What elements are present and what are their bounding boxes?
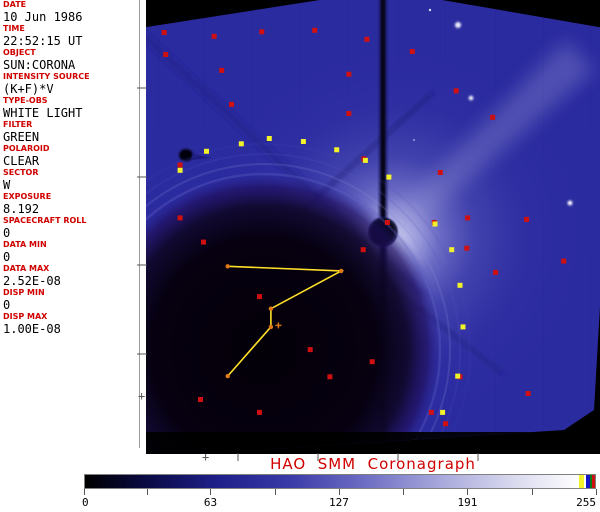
meta-row: FILTER GREEN (0, 120, 139, 144)
meta-value-date: 10 Jun 1986 (3, 10, 139, 24)
colorbar: 063127191255 (84, 474, 596, 512)
meta-row: TYPE-OBS WHITE LIGHT (0, 96, 139, 120)
colorbar-tick-4 (339, 489, 340, 495)
meta-value-object: SUN:CORONA (3, 58, 139, 72)
yellow-marker (386, 175, 391, 180)
meta-label-polaroid: POLAROID (3, 144, 139, 154)
yellow-marker (178, 168, 183, 173)
red-marker (219, 68, 224, 73)
red-marker (308, 347, 313, 352)
colorbar-label-255: 255 (576, 496, 596, 509)
yellow-marker (363, 158, 368, 163)
red-marker (361, 247, 366, 252)
red-marker (163, 52, 168, 57)
colorbar-strip[interactable] (84, 474, 596, 489)
red-marker (454, 88, 459, 93)
meta-row: DATA MIN 0 (0, 240, 139, 264)
colorbar-tick-1 (147, 489, 148, 495)
field-of-view (146, 0, 600, 454)
colorbar-label-191: 191 (458, 496, 478, 509)
red-marker (178, 163, 183, 168)
colorbar-ticks (84, 489, 596, 496)
red-marker (178, 215, 183, 220)
meta-row: INTENSITY SOURCE (K+F)*V (0, 72, 139, 96)
red-marker (465, 215, 470, 220)
meta-value-filter: GREEN (3, 130, 139, 144)
red-marker (346, 111, 351, 116)
red-marker (312, 28, 317, 33)
meta-label-type-obs: TYPE-OBS (3, 96, 139, 106)
coronagraph-canvas (146, 0, 600, 454)
red-marker (490, 115, 495, 120)
meta-value-data-min: 0 (3, 250, 139, 264)
red-marker (257, 410, 262, 415)
red-marker (201, 240, 206, 245)
colorbar-tick-7 (532, 489, 533, 495)
yellow-marker (455, 374, 460, 379)
meta-value-disp-max: 1.00E-08 (3, 322, 139, 336)
red-marker (212, 34, 217, 39)
meta-value-time: 22:52:15 UT (3, 34, 139, 48)
meta-label-filter: FILTER (3, 120, 139, 130)
meta-label-object: OBJECT (3, 48, 139, 58)
red-marker (229, 102, 234, 107)
meta-value-exposure: 8.192 (3, 202, 139, 216)
meta-label-disp-max: DISP MAX (3, 312, 139, 322)
polygon-vertex-4[interactable] (226, 374, 230, 378)
meta-row: DISP MAX 1.00E-08 (0, 312, 139, 336)
colorbar-label-127: 127 (329, 496, 349, 509)
meta-row: DATE 10 Jun 1986 (0, 0, 139, 24)
yellow-marker (433, 222, 438, 227)
metadata-panel: DATE 10 Jun 1986 TIME 22:52:15 UT OBJECT… (0, 0, 140, 448)
meta-label-disp-min: DISP MIN (3, 288, 139, 298)
meta-row: SECTOR W (0, 168, 139, 192)
meta-row: TIME 22:52:15 UT (0, 24, 139, 48)
meta-value-disp-min: 0 (3, 298, 139, 312)
yellow-marker (461, 324, 466, 329)
colorbar-label-63: 63 (204, 496, 217, 509)
polygon-vertex-0[interactable] (226, 264, 230, 268)
red-marker (198, 397, 203, 402)
red-marker (443, 421, 448, 426)
yellow-marker (301, 139, 306, 144)
meta-value-polaroid: CLEAR (3, 154, 139, 168)
colorbar-gradient (85, 475, 595, 488)
red-marker (364, 37, 369, 42)
colorbar-end-stripe-4 (592, 475, 595, 488)
meta-value-intensity-source: (K+F)*V (3, 82, 139, 96)
meta-label-time: TIME (3, 24, 139, 34)
red-marker (410, 49, 415, 54)
meta-row: EXPOSURE 8.192 (0, 192, 139, 216)
polygon-vertex-2[interactable] (269, 307, 273, 311)
coronagraph-viewer: DATE 10 Jun 1986 TIME 22:52:15 UT OBJECT… (0, 0, 600, 512)
yellow-marker (458, 283, 463, 288)
yellow-marker (449, 247, 454, 252)
meta-value-type-obs: WHITE LIGHT (3, 106, 139, 120)
red-marker (429, 410, 434, 415)
yellow-marker (204, 149, 209, 154)
yellow-marker (267, 136, 272, 141)
red-marker (257, 294, 262, 299)
chart-title: HAO SMM Coronagraph (146, 455, 600, 473)
colorbar-tick-2 (210, 489, 211, 495)
red-marker (259, 29, 264, 34)
meta-label-exposure: EXPOSURE (3, 192, 139, 202)
meta-value-data-max: 2.52E-08 (3, 274, 139, 288)
meta-value-spacecraft-roll: 0 (3, 226, 139, 240)
meta-row: DISP MIN 0 (0, 288, 139, 312)
red-marker (524, 217, 529, 222)
left-axis-ticks: + (134, 0, 148, 454)
meta-label-intensity-source: INTENSITY SOURCE (3, 72, 139, 82)
polygon-vertex-3[interactable] (269, 325, 273, 329)
yellow-marker (239, 141, 244, 146)
red-marker (464, 246, 469, 251)
meta-label-date: DATE (3, 0, 139, 10)
coronagraph-image (146, 0, 600, 454)
svg-text:+: + (138, 389, 145, 403)
meta-row: OBJECT SUN:CORONA (0, 48, 139, 72)
meta-label-sector: SECTOR (3, 168, 139, 178)
colorbar-label-0: 0 (82, 496, 89, 509)
meta-label-spacecraft-roll: SPACECRAFT ROLL (3, 216, 139, 226)
colorbar-tick-3 (275, 489, 276, 495)
meta-row: POLAROID CLEAR (0, 144, 139, 168)
red-marker (385, 220, 390, 225)
yellow-marker (440, 410, 445, 415)
meta-value-sector: W (3, 178, 139, 192)
red-marker (493, 270, 498, 275)
colorbar-labels: 063127191255 (84, 496, 596, 510)
meta-row: SPACECRAFT ROLL 0 (0, 216, 139, 240)
polygon-vertex-1[interactable] (339, 269, 343, 273)
colorbar-tick-6 (467, 489, 468, 495)
red-marker (438, 170, 443, 175)
meta-label-data-min: DATA MIN (3, 240, 139, 250)
colorbar-tick-5 (403, 489, 404, 495)
red-marker (370, 359, 375, 364)
red-marker (346, 72, 351, 77)
colorbar-tick-8 (596, 489, 597, 495)
red-marker (162, 30, 167, 35)
meta-label-data-max: DATA MAX (3, 264, 139, 274)
meta-row: DATA MAX 2.52E-08 (0, 264, 139, 288)
red-marker (526, 391, 531, 396)
red-marker (327, 374, 332, 379)
red-marker (561, 259, 566, 264)
colorbar-tick-0 (84, 489, 85, 495)
yellow-marker (334, 147, 339, 152)
